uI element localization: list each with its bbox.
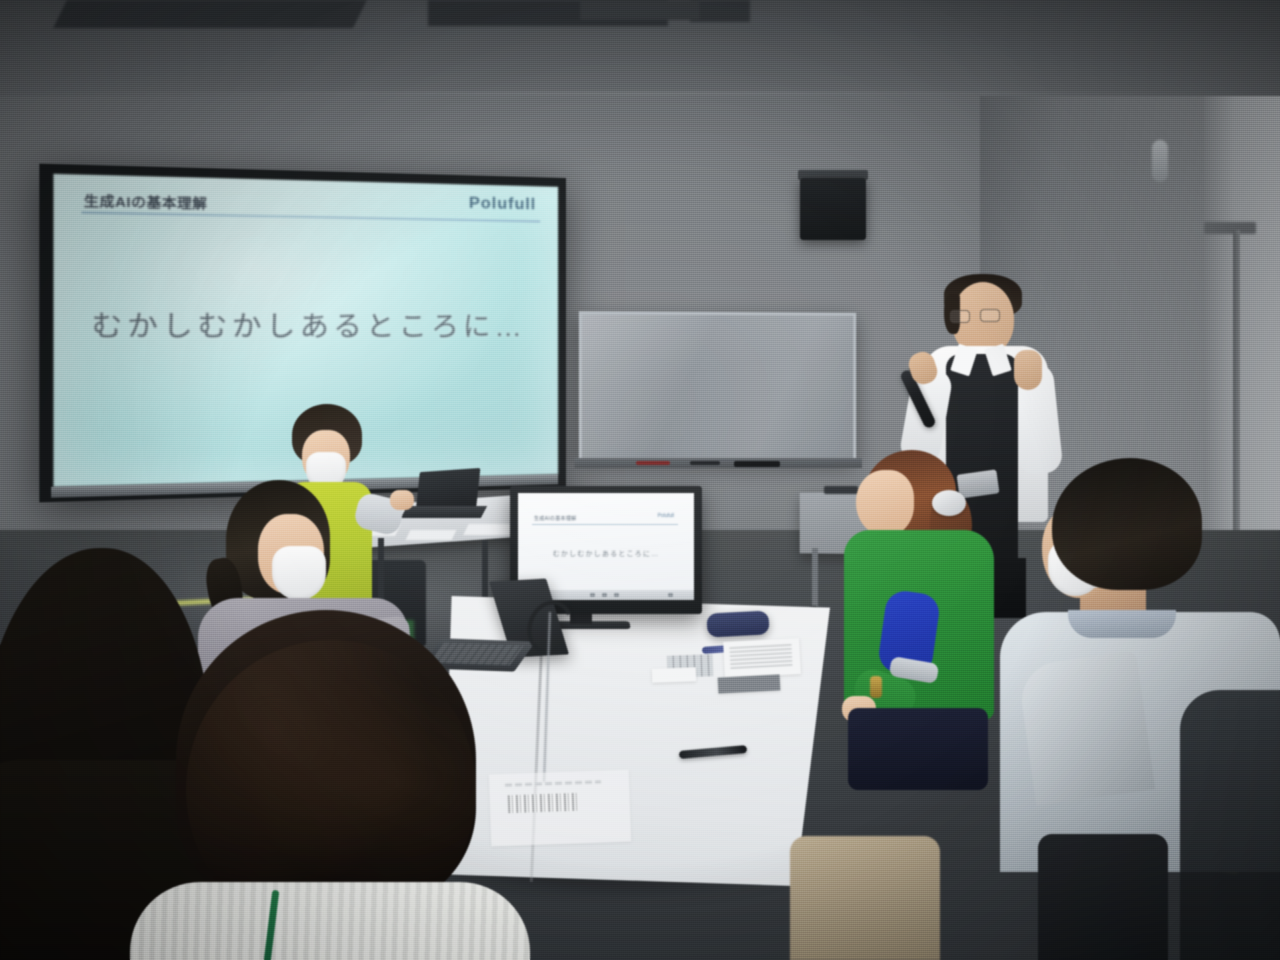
hair-scrunchie [932, 490, 966, 516]
taskbar-item[interactable] [602, 593, 607, 597]
face-mask [272, 546, 326, 600]
chair [790, 836, 940, 960]
monitor-slide-divider [532, 524, 678, 525]
ceiling-seam [0, 92, 1280, 95]
chair [1038, 834, 1168, 960]
seminar-room-photo: 生成AIの基本理解 Polufull むかしむかしあるところに… [0, 0, 1280, 960]
foreground-edge-object [1180, 690, 1280, 960]
hand-gesture [1014, 350, 1042, 390]
slide-divider [82, 211, 541, 222]
wall-sensor-icon [1152, 140, 1168, 182]
glasses-icon [980, 309, 1000, 322]
monitor-slide-title: 生成AIの基本理解 [534, 515, 576, 522]
slide-logo: Polufull [469, 195, 536, 215]
slide-body-text: むかしむかしあるところに… [53, 302, 558, 345]
monitor-slide-body: むかしむかしあるところに… [518, 549, 694, 559]
lower-body [848, 708, 988, 790]
speaker-box [800, 178, 866, 240]
glasses-icon [950, 310, 970, 323]
whiteboard-marker [636, 461, 670, 465]
ceiling-duct [53, 0, 367, 28]
laptop-keyboard [430, 643, 524, 666]
slide-title: 生成AIの基本理解 [84, 190, 208, 213]
handout-paper [718, 674, 781, 693]
pencil-case [706, 610, 769, 637]
collar [1068, 610, 1176, 638]
monitor-slide-logo: Polufull [658, 513, 674, 519]
hair [1052, 458, 1202, 590]
whiteboard-eraser [734, 461, 780, 467]
handout-paper [652, 667, 696, 683]
handout-paper [489, 770, 631, 847]
whiteboard [579, 311, 856, 463]
face [856, 470, 914, 536]
taskbar-item[interactable] [590, 593, 595, 597]
taskbar-item[interactable] [668, 593, 673, 597]
whiteboard-marker [690, 461, 720, 465]
door-header [1204, 222, 1256, 234]
handout-text-lines [729, 644, 792, 669]
cream-knit-sweater [130, 882, 530, 960]
charm [870, 676, 882, 698]
table-leg [812, 548, 818, 610]
fabric-fold [1017, 650, 1155, 805]
whiteboard-sheen [582, 314, 853, 460]
taskbar-item[interactable] [614, 593, 619, 597]
ceiling-vent [580, 0, 700, 20]
